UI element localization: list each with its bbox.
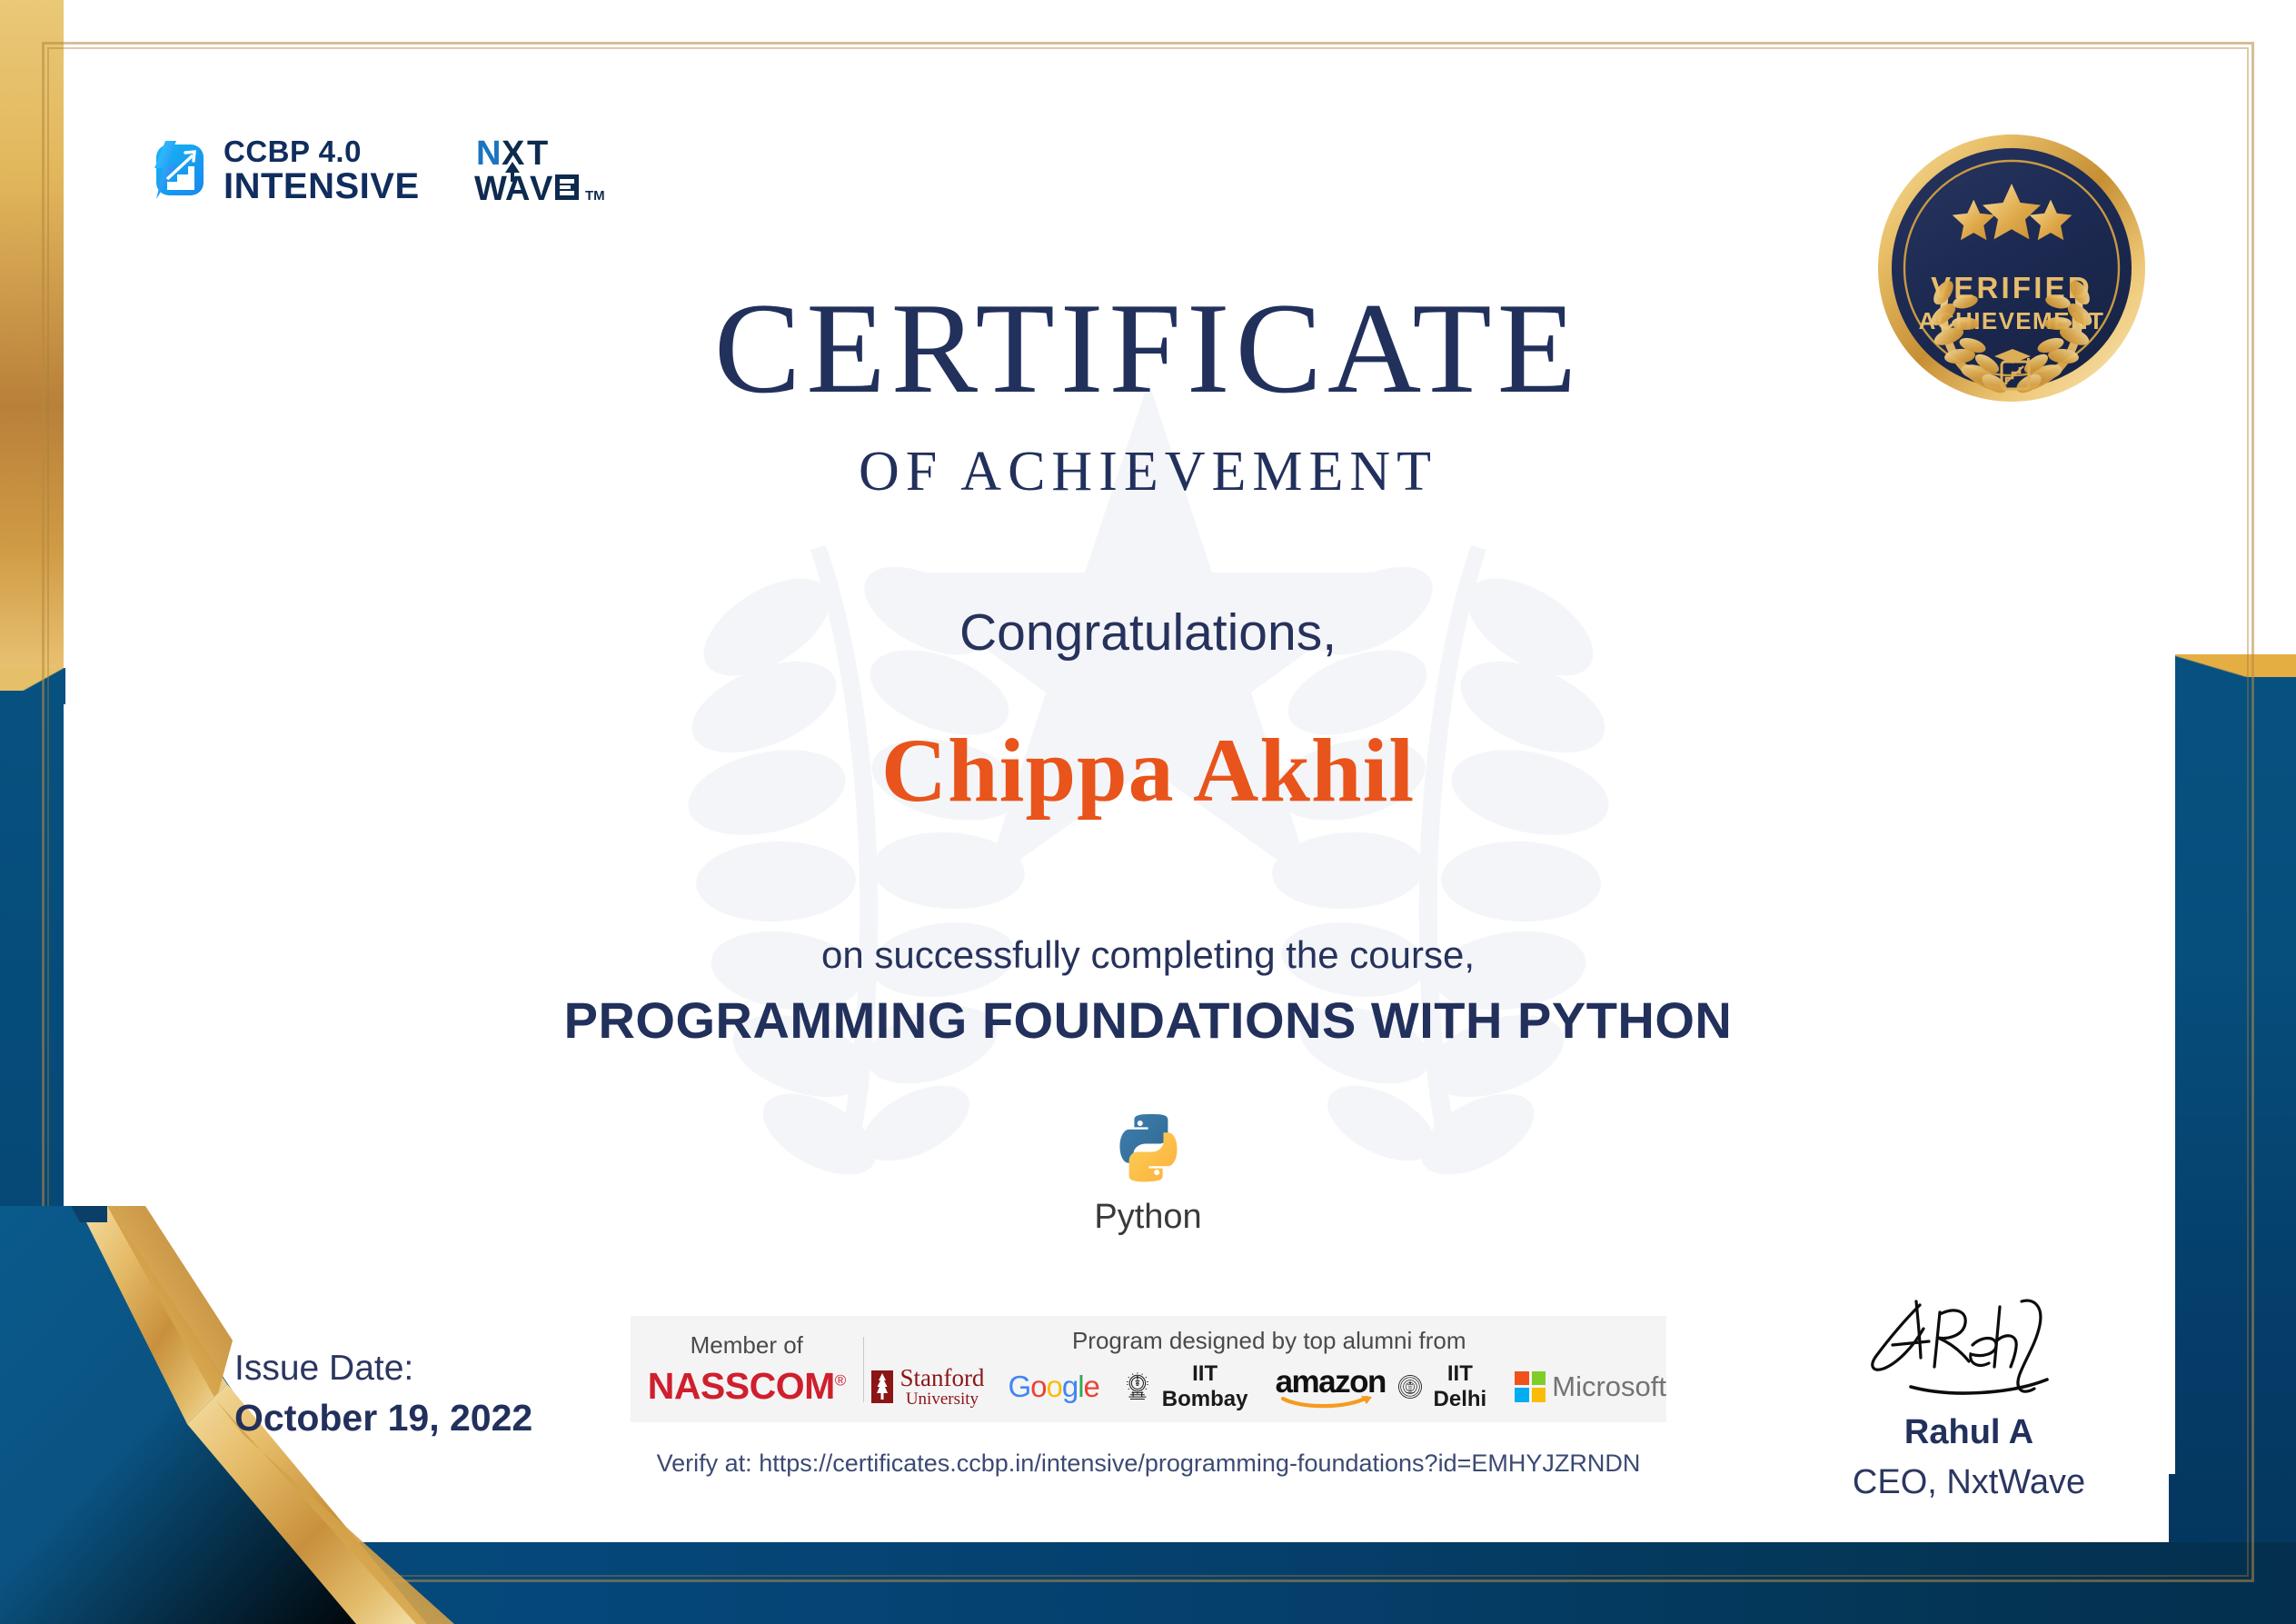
amazon-wordmark: amazon	[1276, 1366, 1374, 1408]
partner-logo-row: Stanford University Google	[871, 1361, 1666, 1412]
svg-text:A: A	[505, 170, 530, 205]
svg-text:N: N	[476, 135, 500, 173]
technology-block: Python	[0, 1111, 2296, 1237]
iit-delhi-emblem-icon	[1397, 1369, 1423, 1405]
page-subtitle: OF ACHIEVEMENT	[0, 440, 2296, 504]
issue-date-block: Issue Date: October 19, 2022	[234, 1345, 532, 1443]
stanford-wordmark: Stanford University	[900, 1366, 984, 1408]
designed-by-label: Program designed by top alumni from	[871, 1327, 1666, 1355]
technology-label: Python	[0, 1198, 2296, 1237]
ccbp-mark-icon	[142, 137, 207, 203]
stanford-logo: Stanford University	[871, 1366, 984, 1408]
svg-text:W: W	[474, 170, 507, 205]
issue-date-value: October 19, 2022	[234, 1393, 532, 1443]
ccbp-line2: INTENSIVE	[224, 168, 420, 204]
signature-icon	[1833, 1289, 2105, 1405]
partners-panel: Member of NASSCOM® Program designed by t…	[631, 1316, 1666, 1422]
nasscom-logo: NASSCOM®	[631, 1365, 863, 1408]
iit-delhi-logo: IIT Delhi	[1397, 1361, 1492, 1412]
iit-delhi-label: IIT Delhi	[1429, 1361, 1492, 1412]
signer-role: CEO, NxtWave	[1796, 1463, 2142, 1502]
course-prefix-text: on successfully completing the course,	[0, 933, 2296, 977]
brand-logos: CCBP 4.0 INTENSIVE N X T W A V	[142, 135, 638, 205]
recipient-name: Chippa Akhil	[0, 718, 2296, 822]
google-wordmark: Google	[1008, 1370, 1098, 1404]
microsoft-wordmark: Microsoft	[1552, 1370, 1666, 1403]
stanford-name: Stanford	[900, 1366, 984, 1390]
iit-bombay-logo: IIT Bombay	[1123, 1361, 1252, 1412]
page-title: CERTIFICATE	[0, 284, 2296, 413]
amazon-logo: amazon	[1276, 1366, 1374, 1408]
signature-block: Rahul A CEO, NxtWave	[1796, 1289, 2142, 1502]
microsoft-squares-icon	[1515, 1371, 1546, 1402]
microsoft-logo: Microsoft	[1515, 1370, 1666, 1403]
iit-bombay-label: IIT Bombay	[1158, 1361, 1252, 1412]
ccbp-wordmark: CCBP 4.0 INTENSIVE	[224, 136, 420, 204]
nasscom-registered-mark: ®	[835, 1371, 846, 1389]
stanford-tree-icon	[871, 1369, 893, 1405]
python-logo-icon	[1111, 1111, 1186, 1185]
member-of-block: Member of NASSCOM®	[631, 1331, 863, 1408]
amazon-text: amazon	[1276, 1366, 1374, 1398]
svg-text:V: V	[530, 170, 553, 205]
designed-by-block: Program designed by top alumni from Stan…	[864, 1327, 1666, 1412]
amazon-smile-icon	[1281, 1396, 1379, 1409]
issue-date-label: Issue Date:	[234, 1345, 532, 1393]
congratulations-text: Congratulations,	[0, 603, 2296, 663]
course-name: PROGRAMMING FOUNDATIONS WITH PYTHON	[0, 991, 2296, 1050]
stanford-sub: University	[900, 1390, 984, 1408]
certificate-page: CCBP 4.0 INTENSIVE N X T W A V	[0, 0, 2296, 1624]
nasscom-wordmark: NASSCOM	[648, 1365, 835, 1407]
google-logo: Google	[1008, 1370, 1098, 1404]
iit-bombay-emblem-icon	[1123, 1367, 1152, 1407]
gold-divider	[229, 838, 2066, 845]
ccbp-line1: CCBP 4.0	[224, 136, 420, 166]
ccbp-logo: CCBP 4.0 INTENSIVE	[142, 136, 420, 204]
nxtwave-logo: N X T W A V TM	[474, 135, 638, 205]
signer-name: Rahul A	[1796, 1413, 2142, 1452]
svg-text:T: T	[527, 135, 548, 173]
member-of-label: Member of	[631, 1331, 863, 1360]
svg-text:TM: TM	[585, 188, 605, 204]
verification-url: Verify at: https://certificates.ccbp.in/…	[631, 1450, 1666, 1478]
